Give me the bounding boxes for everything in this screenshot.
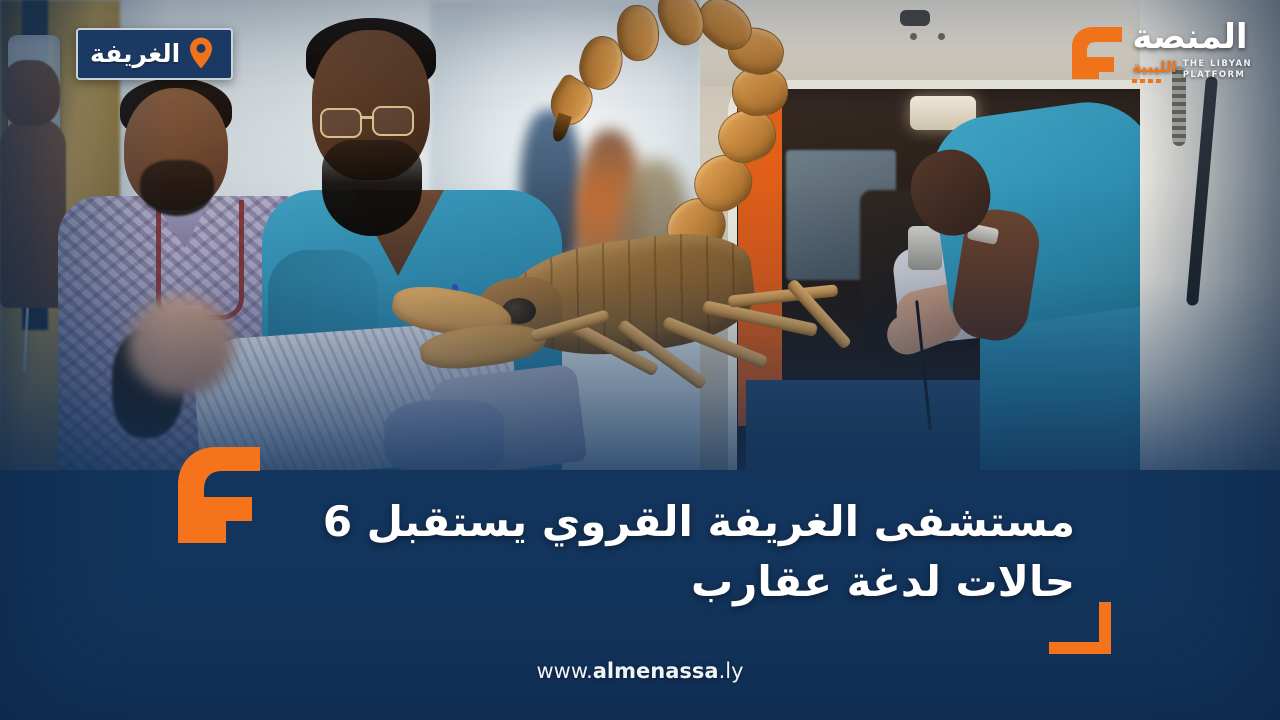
location-badge[interactable]: الغريفة (76, 28, 233, 80)
brand-english-name: THE LIBYAN PLATFORM (1183, 59, 1252, 80)
site-url[interactable]: www.almenassa.ly (0, 661, 1280, 682)
brand-arabic-qualifier: الليبية (1132, 58, 1176, 76)
brand-logo[interactable]: المنصة THE LIBYAN PLATFORM الليبية (1066, 20, 1252, 83)
url-tld: .ly (719, 659, 744, 683)
location-label: الغريفة (90, 41, 180, 66)
brand-bracket-icon (1066, 25, 1124, 79)
url-name: almenassa (593, 659, 719, 683)
brand-dots (1132, 79, 1176, 83)
brand-subline: THE LIBYAN PLATFORM الليبية (1132, 57, 1252, 83)
headline: مستشفى الغريفة القروي يستقبل 6 حالات لدغ… (195, 492, 1075, 613)
brand-text-block: المنصة THE LIBYAN PLATFORM الليبية (1132, 20, 1252, 83)
brand-arabic-name: المنصة (1132, 20, 1247, 54)
location-pin-icon (189, 37, 213, 69)
url-prefix: www. (536, 659, 592, 683)
news-card: الغريفة المنصة THE LIBYAN PLATFORM الليب… (0, 0, 1280, 720)
